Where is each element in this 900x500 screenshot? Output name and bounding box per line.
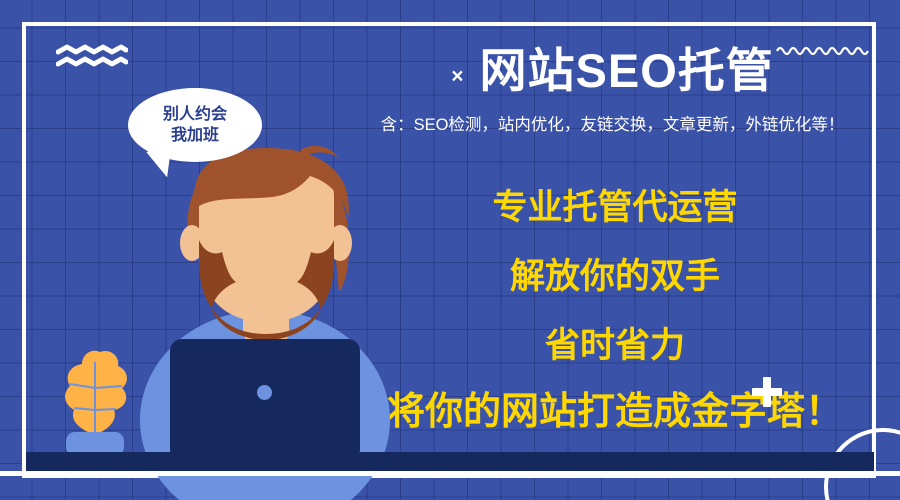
laptop-logo-dot [257,385,272,400]
seo-hosting-poster: × 网站SEO托管 含：SEO检测，站内优化，友链交换，文章更新，外链优化等！ … [0,0,900,500]
desk-edge-line [0,471,900,476]
speech-bubble-line-2: 我加班 [171,125,219,146]
plus-icon [752,377,782,407]
slogan-line: 专业托管代运营 [360,190,870,225]
page-title: 网站SEO托管 [480,46,774,97]
poster-header: × 网站SEO托管 含：SEO检测，站内优化，友链交换，文章更新，外链优化等！ [340,46,885,135]
speech-bubble-line-1: 别人约会 [163,104,227,125]
close-icon: × [451,66,463,87]
slogan-line: 将你的网站打造成金字塔！ [360,393,870,431]
page-subtitle: 含：SEO检测，站内优化，友链交换，文章更新，外链优化等！ [340,111,885,135]
title-row: × 网站SEO托管 [340,46,885,97]
speech-bubble: 别人约会 我加班 [128,88,262,162]
laptop-illustration [170,339,360,454]
slogan-line: 解放你的双手 [360,259,870,294]
slogan-list: 专业托管代运营 解放你的双手 省时省力 将你的网站打造成金字塔！ [360,190,870,431]
slogan-line: 省时省力 [360,328,870,363]
plant-illustration [52,346,138,456]
double-wave-icon [56,44,128,70]
